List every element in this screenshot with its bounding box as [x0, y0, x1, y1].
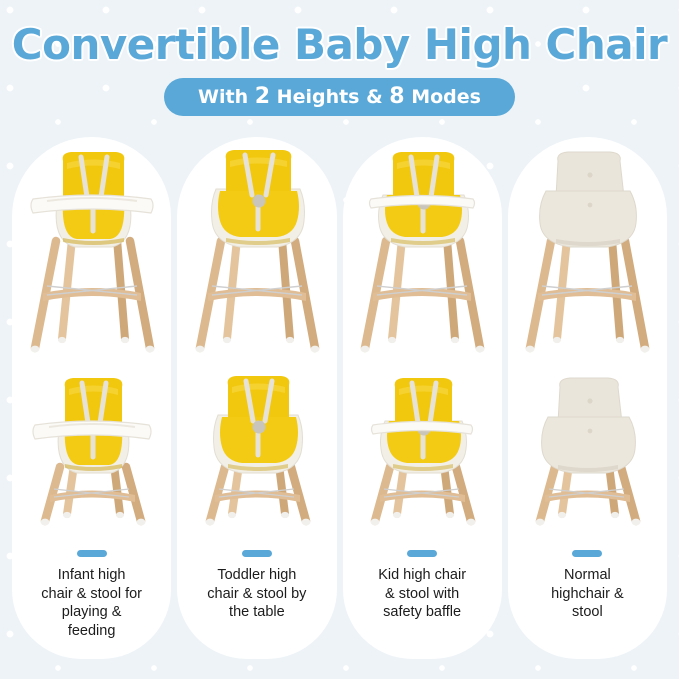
- chair-illustration-low-notray: [182, 371, 332, 537]
- mode-card[interactable]: Normal highchair & stool: [508, 137, 667, 659]
- seat-shell-with-armrests: [542, 417, 636, 473]
- mode-card-grid: Infant high chair & stool for playing & …: [12, 137, 667, 659]
- mode-card[interactable]: Kid high chair & stool with safety baffl…: [343, 137, 502, 659]
- chair-image-low: [508, 365, 667, 537]
- chair-illustration-tall-tray: [17, 143, 167, 365]
- footrest: [373, 286, 471, 301]
- backrest: [556, 152, 624, 197]
- card-caption: Toddler high chair & stool by the table: [201, 566, 312, 622]
- chair-image-tall: [12, 137, 171, 365]
- subtitle-middle: Heights &: [270, 86, 389, 108]
- caption-divider: [77, 550, 107, 557]
- chair-image-low: [177, 365, 336, 537]
- seat-shell-with-armrests: [540, 191, 637, 247]
- caption-divider: [407, 550, 437, 557]
- mode-card[interactable]: Infant high chair & stool for playing & …: [12, 137, 171, 659]
- chair-image-low: [12, 365, 171, 537]
- chair-illustration-low-plain: [512, 371, 662, 537]
- chair-image-tall: [343, 137, 502, 365]
- subtitle-suffix: Modes: [405, 86, 481, 108]
- chair-image-tall: [508, 137, 667, 365]
- caption-divider: [572, 550, 602, 557]
- chair-illustration-low-baffle: [347, 371, 497, 537]
- card-caption: Infant high chair & stool for playing & …: [35, 566, 148, 640]
- backrest: [558, 378, 622, 423]
- chair-illustration-tall-notray: [182, 143, 332, 365]
- page-title: Convertible Baby High Chair: [0, 0, 679, 69]
- subtitle-heights-count: 2: [255, 84, 270, 109]
- footrest: [538, 286, 636, 301]
- chair-illustration-tall-baffle: [347, 143, 497, 365]
- caption-divider: [242, 550, 272, 557]
- subtitle-prefix: With: [198, 86, 255, 108]
- subtitle-modes-count: 8: [389, 84, 404, 109]
- card-caption: Normal highchair & stool: [545, 566, 630, 622]
- card-caption: Kid high chair & stool with safety baffl…: [372, 566, 472, 622]
- chair-image-low: [343, 365, 502, 537]
- chair-illustration-tall-plain: [512, 143, 662, 365]
- footrest: [208, 286, 306, 301]
- subtitle-badge: With 2 Heights & 8 Modes: [164, 78, 515, 116]
- footrest: [43, 286, 141, 301]
- page-background: Convertible Baby High Chair With 2 Heigh…: [0, 0, 679, 679]
- mode-card[interactable]: Toddler high chair & stool by the table: [177, 137, 336, 659]
- chair-illustration-low-tray: [17, 371, 167, 537]
- chair-image-tall: [177, 137, 336, 365]
- header: Convertible Baby High Chair With 2 Heigh…: [0, 0, 679, 130]
